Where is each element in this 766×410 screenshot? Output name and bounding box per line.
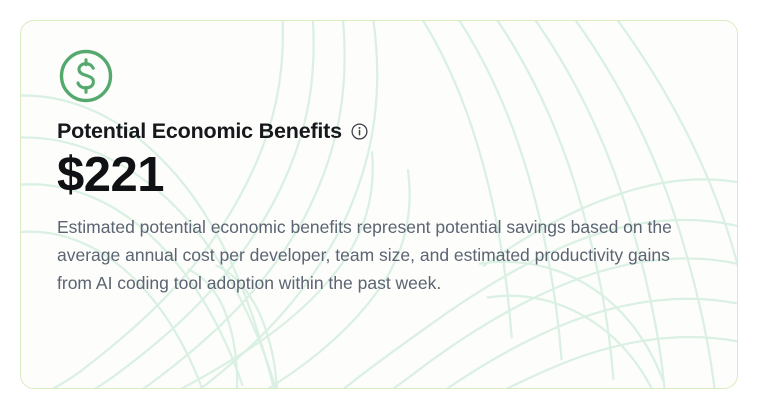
metric-value: $221 — [57, 147, 707, 205]
metric-description: Estimated potential economic benefits re… — [57, 213, 707, 298]
metric-title: Potential Economic Benefits — [57, 119, 342, 145]
info-icon[interactable] — [351, 123, 368, 140]
metric-title-row: Potential Economic Benefits — [57, 119, 707, 145]
dollar-circle-icon — [57, 47, 115, 105]
potential-economic-benefits-card: Potential Economic Benefits $221 Estimat… — [20, 20, 738, 389]
screenshot-root: Potential Economic Benefits $221 Estimat… — [0, 0, 766, 410]
card-content: Potential Economic Benefits $221 Estimat… — [21, 21, 737, 298]
